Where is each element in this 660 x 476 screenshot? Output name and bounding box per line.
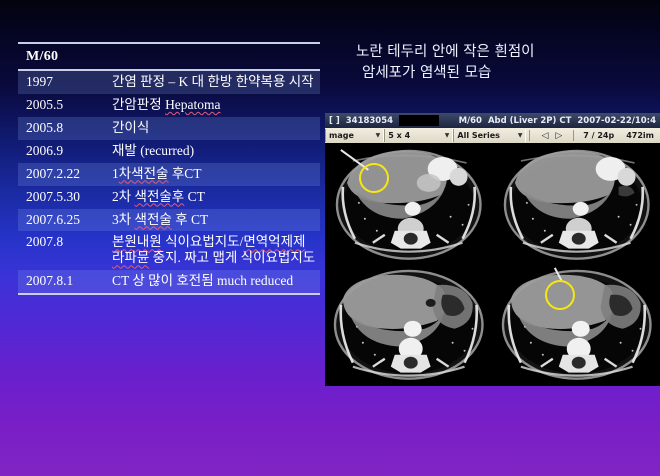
ct-slice-image xyxy=(493,143,660,265)
row-event-term: 색전술 xyxy=(135,212,172,227)
ct-slice-image xyxy=(325,265,492,387)
arrow-right-icon[interactable]: ▷ xyxy=(555,131,562,141)
row-event-post: 식이요법지도/ xyxy=(162,234,244,249)
annotation-circle-1 xyxy=(359,163,389,193)
table-row: 2005.8 간이식 xyxy=(18,117,320,140)
arrow-left-icon[interactable]: ◁ xyxy=(541,131,548,141)
patient-header: M/60 xyxy=(18,44,320,69)
ct-slice-image xyxy=(325,143,492,265)
timeline-body: 1997 간염 판정 – K 대 한방 한약복용 시작 2005.5 간암판정 … xyxy=(18,71,320,293)
study-description: Abd (Liver 2P) CT xyxy=(488,116,571,126)
table-row: 2007.5.30 2차 색전술후 CT xyxy=(18,186,320,209)
row-event: 3차 색전술 후 CT xyxy=(104,209,320,232)
timeline-table: M/60 1997 간염 판정 – K 대 한방 한약복용 시작 2005.5 … xyxy=(18,42,320,295)
slide-caption: 노란 테두리 안에 작은 흰점이 암세포가 염색된 모습 xyxy=(356,42,656,84)
row-event-pre: 1 xyxy=(112,166,119,181)
chevron-down-icon: ▼ xyxy=(445,132,450,139)
series-filter-value: All Series xyxy=(457,131,508,140)
page-navigation[interactable]: ◁ ▷ xyxy=(533,131,570,141)
grid-size-value: 5 x 4 xyxy=(388,131,418,140)
row-event: 본원내원 식이요법지도/면역억제제 라파뮨 중지. 짜고 맵게 식이요법지도 xyxy=(104,231,320,270)
brackets-icon: [ ] xyxy=(329,116,340,126)
row-event: 간염 판정 – K 대 한방 한약복용 시작 xyxy=(104,71,320,94)
chevron-down-icon: ▼ xyxy=(518,132,523,139)
table-row: 2005.5 간암판정 Hepatoma xyxy=(18,94,320,117)
grid-size-select[interactable]: 5 x 4 ▼ xyxy=(384,129,453,142)
ct-slice-3[interactable] xyxy=(325,265,493,387)
table-row: 2007.8.1 CT 상 많이 호전됨 much reduced xyxy=(18,270,320,293)
caption-line-1: 노란 테두리 안에 작은 흰점이 xyxy=(356,44,535,60)
patient-sex-age: M/60 xyxy=(459,116,482,126)
table-row: 2007.8 본원내원 식이요법지도/면역억제제 라파뮨 중지. 짜고 맵게 식… xyxy=(18,231,320,270)
page-indicator: 7 / 24p xyxy=(577,131,620,140)
caption-line-2: 암세포가 염색된 모습 xyxy=(362,63,656,84)
chevron-down-icon: ▼ xyxy=(376,132,381,139)
row-date: 2007.5.30 xyxy=(18,186,104,209)
row-event: CT 상 많이 호전됨 much reduced xyxy=(104,270,320,293)
ct-image-grid xyxy=(325,143,660,386)
slide-root: M/60 1997 간염 판정 – K 대 한방 한약복용 시작 2005.5 … xyxy=(0,0,660,476)
row-event: 간암판정 Hepatoma xyxy=(104,94,320,117)
row-event-term: 차색전술 xyxy=(119,166,169,181)
row-event-term: 본원내원 xyxy=(112,234,162,249)
row-event-post: 후 CT xyxy=(172,212,208,227)
row-event-term: Hepatoma xyxy=(165,97,220,112)
row-date: 2006.9 xyxy=(18,140,104,163)
row-event-pre: 2차 xyxy=(112,189,135,204)
row-event-post2: 중지. 짜고 맵게 식이요법지도 xyxy=(149,250,315,265)
ct-viewer-toolbar: mage ▼ 5 x 4 ▼ All Series ▼ ◁ ▷ 7 / 24p … xyxy=(325,128,660,143)
row-event: 재발 (recurred) xyxy=(104,140,320,163)
ct-slice-image xyxy=(493,265,660,387)
row-date: 2007.8.1 xyxy=(18,270,104,293)
row-event: 1차색전술 후CT xyxy=(104,163,320,186)
toolbar-divider xyxy=(529,130,530,141)
row-event-pre: 3차 xyxy=(112,212,135,227)
table-bottom-rule xyxy=(18,293,320,295)
row-date: 2005.5 xyxy=(18,94,104,117)
row-date: 2007.6.25 xyxy=(18,209,104,232)
table-row: 2006.9 재발 (recurred) xyxy=(18,140,320,163)
row-event-term: 색전술후 xyxy=(135,189,185,204)
row-date: 2007.2.22 xyxy=(18,163,104,186)
row-event-post: CT xyxy=(184,189,205,204)
masked-field xyxy=(399,115,439,126)
ct-slice-4[interactable] xyxy=(493,265,660,387)
row-event-text: 간암판정 xyxy=(112,97,165,112)
series-filter-select[interactable]: All Series ▼ xyxy=(453,129,526,142)
image-count: 472im xyxy=(620,131,660,140)
accession-number: 34183054 xyxy=(346,116,393,126)
row-event: 간이식 xyxy=(104,117,320,140)
table-row: 1997 간염 판정 – K 대 한방 한약복용 시작 xyxy=(18,71,320,94)
ct-slice-1[interactable] xyxy=(325,143,493,265)
table-row: 2007.6.25 3차 색전술 후 CT xyxy=(18,209,320,232)
study-datetime: 2007-02-22/10:4 xyxy=(577,116,656,126)
row-date: 2007.8 xyxy=(18,231,104,270)
row-date: 2005.8 xyxy=(18,117,104,140)
row-event: 2차 색전술후 CT xyxy=(104,186,320,209)
table-row: 2007.2.22 1차색전술 후CT xyxy=(18,163,320,186)
row-event-post: 후CT xyxy=(168,166,201,181)
layout-mode-value: mage xyxy=(329,131,362,140)
layout-mode-select[interactable]: mage ▼ xyxy=(325,129,384,142)
toolbar-divider xyxy=(573,130,574,141)
ct-viewer-window: [ ] 34183054 M/60 Abd (Liver 2P) CT 2007… xyxy=(325,113,660,386)
ct-slice-2[interactable] xyxy=(493,143,660,265)
ct-viewer-titlebar: [ ] 34183054 M/60 Abd (Liver 2P) CT 2007… xyxy=(325,113,660,128)
annotation-circle-2 xyxy=(545,280,575,310)
row-date: 1997 xyxy=(18,71,104,94)
